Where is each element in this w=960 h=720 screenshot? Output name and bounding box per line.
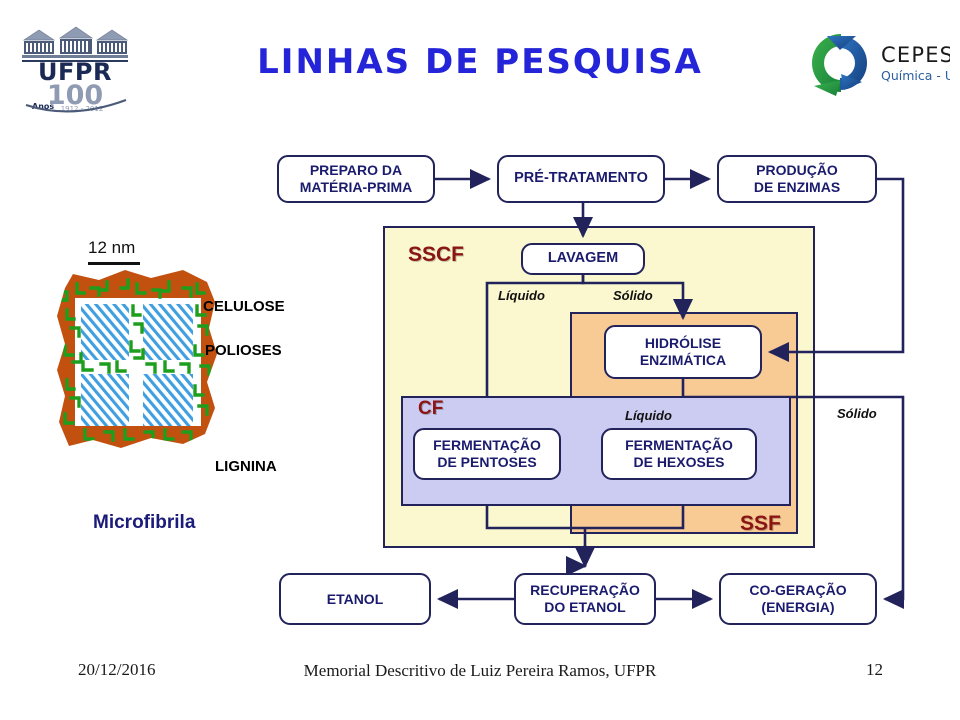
process-box-preparo[interactable]: PREPARO DA MATÉRIA-PRIMA <box>277 155 435 203</box>
edge-label-solido-2: Sólido <box>837 406 877 421</box>
region-label-sscf: SSCF <box>408 243 464 267</box>
footer-page-number: 12 <box>866 660 883 680</box>
process-box-fermentacao-de-hexoses[interactable]: FERMENTAÇÃO DE HEXOSES <box>601 428 757 480</box>
process-box-pre-tratamento[interactable]: PRÉ-TRATAMENTO <box>497 155 665 203</box>
process-box-fermentacao-de-pentoses[interactable]: FERMENTAÇÃO DE PENTOSES <box>413 428 561 480</box>
process-box-co-geracao[interactable]: CO-GERAÇÃO (ENERGIA) <box>719 573 877 625</box>
edge-label-liquido-2: Líquido <box>625 408 672 423</box>
process-flow-diagram: SSCF SSF CF Líquido Sólido Líquido Sólid… <box>0 0 960 660</box>
process-box-lavagem[interactable]: LAVAGEM <box>521 243 645 275</box>
edge-label-liquido-1: Líquido <box>498 288 545 303</box>
footer-center-text: Memorial Descritivo de Luiz Pereira Ramo… <box>300 660 660 681</box>
region-label-cf: CF <box>418 398 443 420</box>
edge-label-solido-1: Sólido <box>613 288 653 303</box>
process-box-hidrolise-enzimatica[interactable]: HIDRÓLISE ENZIMÁTICA <box>604 325 762 379</box>
region-label-ssf: SSF <box>740 512 781 536</box>
footer-date: 20/12/2016 <box>78 660 155 680</box>
slide-canvas: UFPR 100 Anos 1912 - 2012 LINHAS DE PESQ… <box>0 0 960 720</box>
process-box-etanol[interactable]: ETANOL <box>279 573 431 625</box>
process-box-recuperacao-do-etanol[interactable]: RECUPERAÇÃO DO ETANOL <box>514 573 656 625</box>
process-box-producao-de-enzimas[interactable]: PRODUÇÃO DE ENZIMAS <box>717 155 877 203</box>
slide-footer: 20/12/2016 Memorial Descritivo de Luiz P… <box>0 655 960 715</box>
